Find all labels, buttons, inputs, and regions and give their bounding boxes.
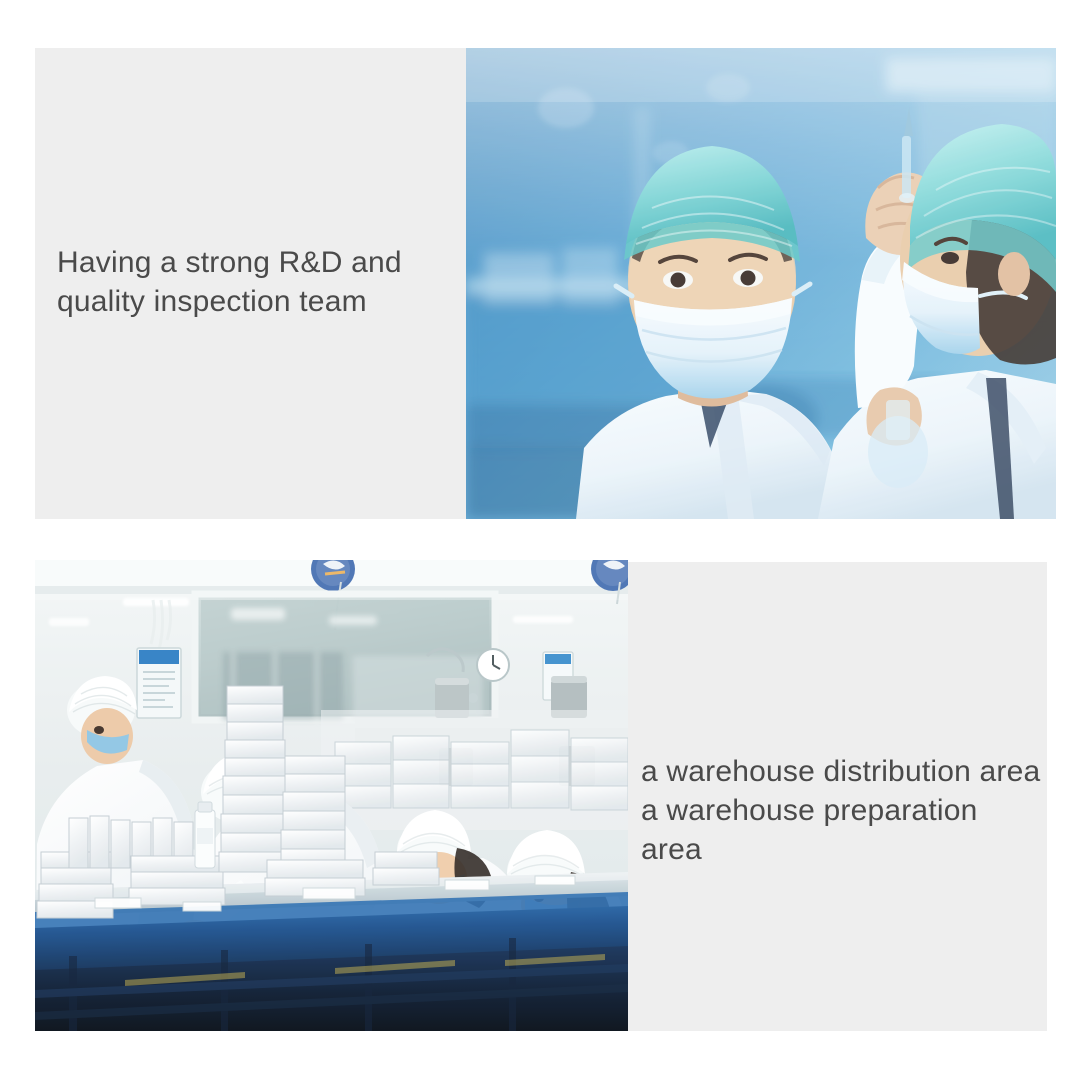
- lab-quality-inspection-photo: [466, 48, 1056, 519]
- warehouse-photo-graphic: [35, 560, 628, 1031]
- page-root: Having a strong R&D and quality inspecti…: [0, 0, 1080, 1080]
- lab-photo-graphic: [466, 48, 1056, 519]
- warehouse-packing-photo: [35, 560, 628, 1031]
- caption-warehouse: a warehouse distribution area a warehous…: [641, 752, 1046, 869]
- caption-rnd-quality: Having a strong R&D and quality inspecti…: [57, 243, 457, 321]
